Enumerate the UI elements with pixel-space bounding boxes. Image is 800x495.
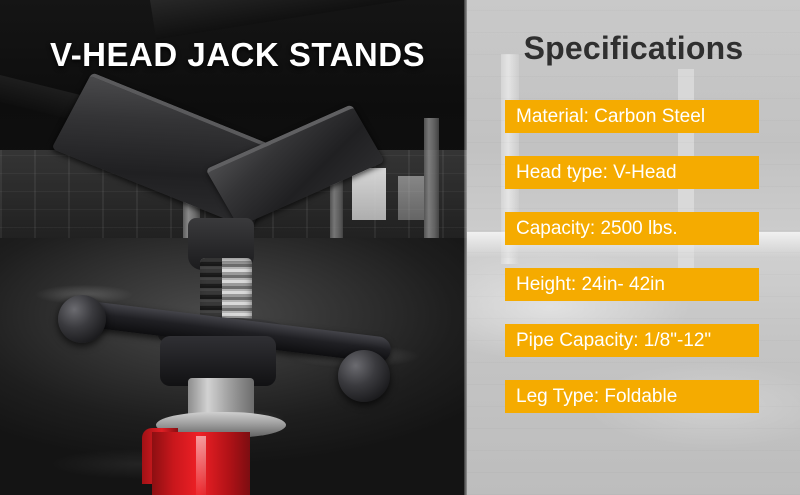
spec-text-capacity: Capacity: 2500 lbs. (516, 219, 678, 238)
jack-stand-product-image (0, 0, 467, 495)
spec-row-height: Height: 24in- 42in (505, 268, 759, 301)
red-post-highlight (196, 436, 206, 495)
spec-text-material: Material: Carbon Steel (516, 107, 705, 126)
spec-row-capacity: Capacity: 2500 lbs. (505, 212, 759, 245)
specifications-heading: Specifications (467, 30, 800, 67)
spec-row-material: Material: Carbon Steel (505, 100, 759, 133)
handle-ball-knob-left (58, 295, 106, 343)
specifications-list: Material: Carbon Steel Head type: V-Head… (505, 100, 759, 413)
spec-row-head-type: Head type: V-Head (505, 156, 759, 189)
spec-text-pipe-capacity: Pipe Capacity: 1/8"-12" (516, 331, 711, 350)
specifications-panel: Specifications Material: Carbon Steel He… (467, 0, 800, 495)
handle-ball-knob-right (338, 350, 390, 402)
spec-row-pipe-capacity: Pipe Capacity: 1/8"-12" (505, 324, 759, 357)
product-photo-panel: V-HEAD JACK STANDS (0, 0, 467, 495)
spec-text-head-type: Head type: V-Head (516, 163, 677, 182)
page-title: V-HEAD JACK STANDS (50, 36, 425, 74)
spec-text-leg-type: Leg Type: Foldable (516, 387, 677, 406)
spec-text-height: Height: 24in- 42in (516, 275, 665, 294)
product-spec-banner: V-HEAD JACK STANDS Specifications Materi… (0, 0, 800, 495)
v-head-plate-right (205, 104, 384, 227)
spec-row-leg-type: Leg Type: Foldable (505, 380, 759, 413)
